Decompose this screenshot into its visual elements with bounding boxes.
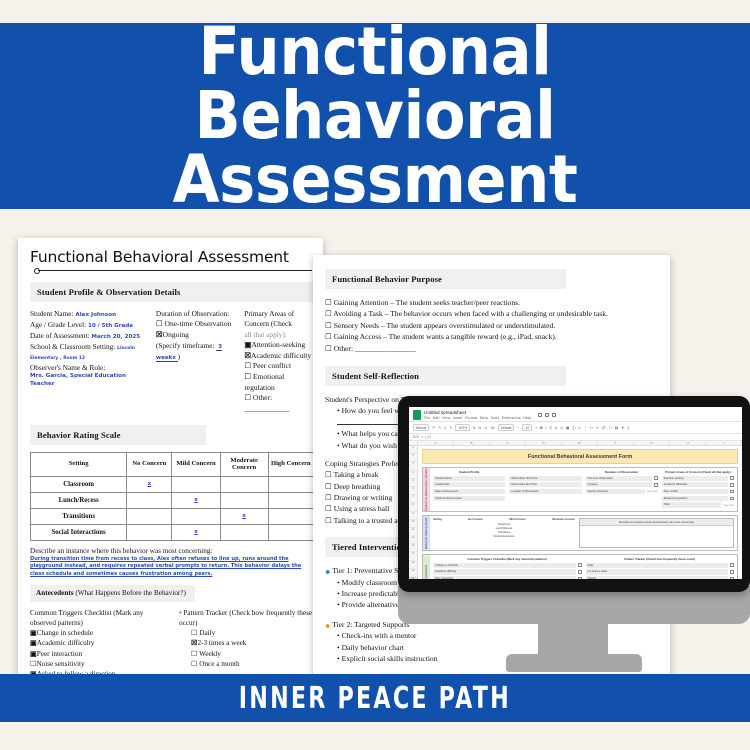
column-header-e[interactable]: E [562, 441, 598, 445]
purpose-item-gaining-access[interactable]: ☐ Gaining Access – The student wants a t… [325, 331, 660, 342]
sheet-pattern-panel: Pattern Tracker (Check how frequently th… [586, 557, 735, 579]
row-header[interactable]: 4 [409, 471, 417, 479]
primary-areas-heading: Primary Areas of Concern (Check [244, 309, 314, 330]
primary-areas-subheading: all that apply): [244, 330, 314, 340]
monitor-screen: Untitled spreadsheet File Edit View Inse… [409, 407, 742, 579]
corner-select-all[interactable] [409, 441, 418, 445]
filter-icon[interactable]: ▼ [621, 426, 624, 430]
purpose-label: Gaining Attention – The student seeks te… [334, 298, 520, 307]
duration-option-onetime[interactable]: ☐ One-time Observation [156, 319, 236, 330]
cell-mark[interactable] [172, 476, 220, 492]
sheet-col-student-profile: Student Profile Student Name Grade/Class… [433, 470, 505, 509]
concern-item-academic[interactable]: ☒Academic difficulty [244, 351, 314, 362]
th-setting: Setting [433, 518, 442, 521]
sheet-describe-panel: Describe an instance where this behavior… [579, 518, 734, 548]
checkbox-icon[interactable]: ☐ [325, 482, 332, 491]
cell[interactable]: Ongoing [586, 482, 653, 487]
pattern-item-2-3-week[interactable]: ☒2-3 times a week [191, 638, 314, 648]
checkbox-icon[interactable]: ☐ [244, 393, 251, 402]
sheet-row: Student Name [433, 476, 505, 481]
desktop-monitor-mockup: Untitled spreadsheet File Edit View Inse… [398, 396, 750, 682]
row-label-transitions: Transitions [31, 508, 127, 524]
sheet-row: 2-3 times a week [586, 569, 735, 574]
antecedents-rest: (What Happens Before the Behavior?) [75, 589, 186, 597]
row-header-column: 1 2 3 4 5 6 7 8 9 10 11 12 13 14 [409, 446, 418, 579]
concern-item-attention[interactable]: ▣Attention-seeking [244, 340, 314, 351]
italic-icon[interactable]: I [546, 426, 547, 430]
th-moderate-concern: Moderate Concern [552, 518, 575, 521]
table-header-row: Setting No Concern Mild Concern Moderate… [31, 452, 314, 476]
column-header-b[interactable]: B [454, 441, 490, 445]
row-label-lunch-recess: Lunch/Recess [31, 492, 127, 508]
band-body: Student Profile Student Name Grade/Class… [430, 468, 737, 511]
menus-button[interactable]: Menus [413, 424, 429, 431]
bullet-icon: • [179, 609, 182, 617]
row-header[interactable]: 14 [409, 552, 417, 560]
row-header[interactable]: 10 [409, 520, 417, 528]
checkbox-icon[interactable]: ☐ [325, 298, 332, 307]
col-header: Primary Areas of Concern (Check all that… [662, 470, 734, 474]
sheet-row: Date of Assessment [433, 489, 505, 494]
age-grade-row: Age / Grade Level: 10 / 5th Grade [30, 320, 148, 331]
checkbox-checked-icon[interactable]: ☒ [156, 330, 163, 339]
cell[interactable]: Observation End Time [509, 482, 581, 487]
cloud-status-icon [552, 413, 556, 417]
col-setting: Setting [31, 452, 127, 476]
table-row: Transitions x [31, 508, 314, 524]
cell[interactable]: Academic difficulties [662, 482, 729, 487]
concern-item-other-label: Other: ____________ [244, 393, 289, 413]
checkbox-icon[interactable] [730, 483, 734, 487]
row-header-selected[interactable]: 17 [409, 577, 417, 579]
row-header[interactable]: 15 [409, 561, 417, 569]
cell[interactable]: Peer interaction [433, 576, 576, 579]
pattern-heading: • Pattern Tracker (Check how frequently … [179, 608, 314, 628]
cell[interactable]: Specify timeframe [586, 489, 646, 494]
table-row: Lunch/Recess x [31, 492, 314, 508]
checkbox-icon[interactable] [578, 570, 582, 574]
checkbox-icon[interactable]: ☐ [191, 660, 197, 668]
cell-mark[interactable] [127, 508, 172, 524]
trigger-label: Noise sensitivity [36, 660, 84, 668]
sheet-row: Academic difficulties [662, 482, 734, 487]
cell-mark[interactable]: x [127, 476, 172, 492]
sheet-row: Peer interaction [433, 576, 582, 579]
assessment-date-label: Date of Assessment: [30, 331, 90, 340]
purpose-label: Other: ________________ [334, 344, 416, 353]
placeholder-text[interactable]: Type here [647, 490, 658, 493]
checkbox-icon[interactable]: ☐ [244, 372, 251, 381]
school-setting-value-3: , Room 12 [60, 356, 85, 361]
cell[interactable]: Emotional regulation [662, 496, 729, 501]
currency-icon[interactable]: $ [473, 426, 475, 430]
trigger-item-academic-difficulty[interactable]: ▣Academic difficulty [30, 638, 165, 648]
sheet-row: Emotional regulation [662, 496, 734, 501]
duration-option-ongoing-label: Ongoing [163, 330, 189, 339]
checkbox-icon[interactable] [654, 483, 658, 487]
checkbox-icon[interactable]: ☐ [325, 344, 332, 353]
col-no-concern: No Concern [127, 452, 172, 476]
column-header-g[interactable]: G [634, 441, 670, 445]
cell[interactable]: One-time Observation [586, 476, 653, 481]
text-wrap-icon[interactable]: ↩ [590, 426, 593, 430]
observer-value: Mrs. Garcia, Special Education Teacher [30, 373, 148, 389]
cell[interactable]: Other [662, 502, 722, 507]
document-page-1: Functional Behavioral Assessment Student… [18, 238, 323, 678]
concern-item-peer[interactable]: ☐ Peer conflict [244, 361, 314, 372]
monitor-foot [506, 654, 642, 672]
checkbox-icon[interactable]: ☐ [325, 309, 332, 318]
assessment-date-value: March 20, 2025 [91, 334, 140, 340]
triggers-panel-header: Common Triggers Checklist (Mark any obse… [433, 557, 582, 561]
cell[interactable]: Student Name [433, 476, 505, 481]
checkbox-checked-icon[interactable]: ▣ [30, 639, 37, 647]
sheet-row: Grade/Class [433, 482, 505, 487]
trigger-item-noise-sensitivity[interactable]: ☐Noise sensitivity [30, 659, 165, 669]
row-header[interactable]: 6 [409, 487, 417, 495]
text-color-icon[interactable]: A [555, 426, 557, 430]
cell-mark[interactable] [220, 476, 268, 492]
observer-row: Observer's Name & Role: [30, 363, 148, 373]
checkbox-icon[interactable] [654, 476, 658, 480]
sheet-rating-table: Setting No Concern Mild Concern Moderate… [433, 518, 575, 548]
spreadsheet-grid: 1 2 3 4 5 6 7 8 9 10 11 12 13 14 [409, 446, 742, 579]
sheet-triggers-panel: Common Triggers Checklist (Mark any obse… [433, 557, 582, 579]
cell[interactable]: Observation Start Time [509, 476, 581, 481]
poster-title-line1: Functional Behavioral [30, 20, 720, 148]
concern-item-other[interactable]: ☐ Other: ____________ [244, 393, 314, 414]
cell[interactable]: Academic difficulty [433, 569, 576, 574]
checkbox-icon[interactable] [578, 563, 582, 567]
col-header: Duration of Observation [586, 470, 658, 474]
sheet-row: Observation End Time [509, 482, 581, 487]
band-tab-label: Antecedents [423, 555, 430, 579]
band-tab-label: Behavior Rating Scale [423, 516, 430, 550]
sheet-content-area: Functional Behavioral Assessment Form St… [418, 446, 742, 579]
cell-mark[interactable] [268, 524, 313, 540]
purpose-item-other[interactable]: ☐ Other: ________________ [325, 343, 660, 354]
spreadsheet-titlebar: Untitled spreadsheet File Edit View Inse… [409, 407, 742, 421]
pattern-label: Weekly [199, 650, 221, 658]
purpose-label: Gaining Access – The student wants a tan… [334, 332, 557, 341]
merge-cells-icon[interactable]: ◫ [572, 426, 575, 430]
doc1-field-column: Student Name: Alex Johnson Age / Grade L… [30, 309, 148, 415]
row-header[interactable]: 11 [409, 528, 417, 536]
insert-link-icon[interactable]: 🔗 [601, 426, 605, 430]
cell[interactable]: Observer Name & Role [433, 496, 505, 501]
poster-canvas: Functional Behavioral Assessment Functio… [0, 0, 750, 750]
column-header-i[interactable]: I [706, 441, 742, 445]
school-setting-row: School & Classroom Setting: Lincoln Elem… [30, 342, 148, 363]
checkbox-checked-icon[interactable]: ▣ [30, 650, 37, 658]
tier-bullet-icon: ● [325, 620, 330, 630]
font-size-decrease-icon[interactable]: − [517, 426, 519, 430]
behavior-rating-table: Setting No Concern Mild Concern Moderate… [30, 452, 314, 541]
table-row: Social Interactions x [31, 524, 314, 540]
concern-item-academic-label: Academic difficulty [251, 351, 311, 360]
trigger-label: Academic difficulty [37, 639, 95, 647]
poster-title-line2: Assessment [173, 148, 578, 212]
print-icon[interactable]: ⎙ [444, 426, 447, 430]
percent-icon[interactable]: % [478, 426, 481, 430]
functions-icon[interactable]: Σ [627, 426, 629, 430]
fill-color-icon[interactable]: ◷ [560, 426, 563, 430]
th-no-concern: No Concern [468, 518, 483, 521]
row-header[interactable]: 1 [409, 446, 417, 454]
borders-icon[interactable]: ▦ [566, 426, 569, 430]
cell-mark[interactable] [220, 524, 268, 540]
row-header[interactable]: 8 [409, 503, 417, 511]
cell-mark[interactable] [127, 524, 172, 540]
checkbox-icon[interactable] [730, 476, 734, 480]
rating-table-headers: Setting No Concern Mild Concern Moderate… [433, 518, 575, 521]
sheet-row: Ongoing [586, 482, 658, 487]
describe-instance-label: Describe an instance where this behavior… [30, 547, 314, 555]
duration-option-onetime-label: One-time Observation [165, 319, 232, 328]
title-action-icons [538, 413, 556, 417]
cell-mark[interactable]: x [172, 492, 220, 508]
checkbox-icon[interactable]: ☐ [325, 321, 332, 330]
tier-bullet-icon: ● [325, 567, 330, 577]
checkbox-icon[interactable] [578, 577, 582, 579]
paint-format-icon[interactable]: ✎ [450, 426, 453, 430]
sheet-row: Daily [586, 563, 735, 568]
sheet-row: Weekly [586, 576, 735, 579]
sheet-row: Observer Name & Role [433, 496, 505, 501]
pattern-item-daily[interactable]: ☐ Daily [191, 628, 314, 638]
cell[interactable]: Daily [586, 563, 729, 568]
star-icon[interactable] [538, 413, 542, 417]
row-header[interactable]: 5 [409, 479, 417, 487]
doc1-section-student-profile: Student Profile & Observation Details [30, 282, 314, 302]
checkbox-icon[interactable]: ☐ [244, 361, 251, 370]
row-header[interactable]: 16 [409, 569, 417, 577]
row-label-classroom: Classroom [31, 476, 127, 492]
sheet-row: Observation Start Time [509, 476, 581, 481]
column-header-a[interactable]: A [418, 441, 454, 445]
formula-bar[interactable]: B20 ▾ | ƒx [409, 434, 742, 441]
checkbox-icon[interactable] [730, 490, 734, 494]
cell-mark[interactable]: x [172, 524, 220, 540]
col-moderate-concern: Moderate Concern [220, 452, 268, 476]
column-header-c[interactable]: C [490, 441, 526, 445]
purpose-item-sensory-needs[interactable]: ☐ Sensory Needs – The student appears ov… [325, 320, 660, 331]
row-header[interactable]: 3 [409, 462, 417, 470]
pattern-item-monthly[interactable]: ☐ Once a month [191, 659, 314, 669]
row-header[interactable]: 9 [409, 512, 417, 520]
cell-mark[interactable] [220, 492, 268, 508]
checkbox-icon[interactable] [730, 563, 734, 567]
cell-mark[interactable] [268, 492, 313, 508]
checkbox-icon[interactable]: ☐ [156, 319, 163, 328]
sheet-row: Academic difficulty [433, 569, 582, 574]
footer-banner: INNER PEACE PATH [0, 674, 750, 722]
cell-mark[interactable] [127, 492, 172, 508]
checkbox-icon[interactable]: ☐ [325, 493, 332, 502]
cell-mark[interactable] [172, 508, 220, 524]
placeholder-text[interactable]: Type here [723, 504, 734, 507]
band-columns: Student Profile Student Name Grade/Class… [433, 470, 734, 509]
rating-row-social[interactable]: Social Interactions [433, 535, 575, 539]
describe-panel[interactable]: Describe an instance where this behavior… [579, 518, 734, 548]
checkbox-icon[interactable]: ☐ [191, 650, 197, 658]
cell-mark[interactable] [268, 476, 313, 492]
doc1-duration-column: Duration of Observation: ☐ One-time Obse… [156, 309, 236, 415]
duration-specify-close: ) [178, 352, 180, 361]
spreadsheet-menubar[interactable]: File Edit View Insert Format Data Tools … [424, 416, 531, 420]
table-row: Classroom x [31, 476, 314, 492]
undo-icon[interactable]: ↶ [432, 426, 435, 430]
checkbox-icon[interactable]: ☐ [325, 332, 332, 341]
spreadsheet-toolbar[interactable]: Menus ↶ ↷ ⎙ ✎ 100% $ % .0 .00 Default − … [409, 421, 742, 434]
concern-item-peer-label: Peer conflict [253, 361, 291, 370]
pattern-tracker: • Pattern Tracker (Check how frequently … [179, 608, 314, 678]
purpose-item-avoiding-task[interactable]: ☐ Avoiding a Task – The behavior occurs … [325, 308, 660, 319]
font-size-value[interactable]: 10 [522, 424, 532, 431]
doc2-section-behavior-purpose: Functional Behavior Purpose [325, 269, 566, 289]
sheet-row: Attention seeking [662, 476, 734, 481]
cell[interactable]: Peer conflict [662, 489, 729, 494]
student-name-label: Student Name: [30, 309, 74, 318]
cell[interactable]: Location of Observation [509, 489, 581, 494]
vertical-align-icon[interactable]: ⋮ [583, 426, 586, 430]
text-rotation-icon[interactable]: ↗ [596, 426, 599, 430]
cell-reference[interactable]: B20 [413, 435, 419, 439]
sheet-row: Change in schedule [433, 563, 582, 568]
duration-specify-row: (Specify timeframe: 3 weeks ) [156, 341, 236, 363]
doc1-profile-columns: Student Name: Alex Johnson Age / Grade L… [30, 309, 314, 415]
th-mild-concern: Mild Concern [509, 518, 525, 521]
sheet-band-rating-scale: Behavior Rating Scale Setting No Concern… [422, 515, 738, 551]
pattern-label: Daily [199, 629, 215, 637]
checkbox-icon[interactable]: ☐ [325, 504, 332, 513]
trigger-item-peer-interaction[interactable]: ▣Peer interaction [30, 649, 165, 659]
sheet-row: Peer conflict [662, 489, 734, 494]
concern-item-emotional[interactable]: ☐ Emotional regulation [244, 372, 314, 393]
school-setting-value-2: Elementary [30, 356, 58, 361]
col-high-concern: High Concern [268, 452, 313, 476]
move-folder-icon[interactable] [545, 413, 549, 417]
bold-icon[interactable]: B [540, 426, 542, 430]
antecedents-heading: Antecedents (What Happens Before the Beh… [30, 585, 195, 602]
col-mild-concern: Mild Concern [172, 452, 220, 476]
pattern-label: 2-3 times a week [197, 639, 246, 647]
coping-label: Using a stress ball [334, 504, 389, 513]
checkbox-icon[interactable]: ☐ [325, 470, 332, 479]
sheet-col-primary-concerns: Primary Areas of Concern (Check all that… [662, 470, 734, 509]
antecedents-bold: Antecedents [36, 589, 74, 597]
purpose-label: Avoiding a Task – The behavior occurs wh… [333, 309, 608, 318]
cell[interactable]: Date of Assessment [433, 489, 505, 494]
redo-icon[interactable]: ↷ [438, 426, 441, 430]
cell[interactable]: 2-3 times a week [586, 569, 729, 574]
checkbox-icon[interactable]: ☐ [191, 629, 197, 637]
checkbox-checked-icon[interactable]: ▣ [30, 629, 37, 637]
cell-mark[interactable]: x [220, 508, 268, 524]
sheet-row: Specify timeframeType here [586, 489, 658, 494]
sheets-logo-icon [413, 410, 421, 420]
band-columns: Setting No Concern Mild Concern Moderate… [433, 518, 734, 548]
pattern-heading-label: Pattern Tracker (Check how frequently th… [179, 609, 312, 627]
row-label-social: Social Interactions [31, 524, 127, 540]
duration-option-ongoing[interactable]: ☒Ongoing [156, 330, 236, 341]
tier-item-label: Daily behavior chart [342, 643, 404, 652]
cell[interactable]: Attention seeking [662, 476, 729, 481]
horizontal-align-icon[interactable]: ≡ [578, 426, 580, 430]
cell-mark[interactable] [268, 508, 313, 524]
cell[interactable]: Grade/Class [433, 482, 505, 487]
observer-label: Observer's Name & Role: [30, 363, 105, 372]
duration-heading: Duration of Observation: [156, 309, 236, 319]
doc1-title: Functional Behavioral Assessment [30, 248, 314, 266]
decimal-decrease-icon[interactable]: .0 [484, 426, 487, 430]
sheet-form-title: Functional Behavioral Assessment Form [422, 449, 738, 464]
describe-panel-header: Describe an instance where this behavior… [580, 519, 733, 526]
cell[interactable]: Weekly [586, 576, 729, 579]
duration-specify-label: (Specify timeframe: [156, 341, 215, 350]
concern-item-emotional-label: Emotional regulation [244, 372, 284, 392]
triggers-checklist: Common Triggers Checklist (Mark any obse… [30, 608, 165, 678]
monitor-bezel: Untitled spreadsheet File Edit View Inse… [398, 396, 750, 592]
font-family-select[interactable]: Default [498, 424, 515, 431]
checkbox-icon[interactable] [730, 570, 734, 574]
purpose-label: Sensory Needs – The student appears over… [334, 321, 556, 330]
column-header-h[interactable]: H [670, 441, 706, 445]
brand-name: INNER PEACE PATH [239, 681, 511, 716]
doc1-bottom-lists: Common Triggers Checklist (Mark any obse… [30, 608, 314, 678]
age-grade-label: Age / Grade Level: [30, 320, 86, 329]
pattern-panel-header: Pattern Tracker (Check how frequently th… [586, 557, 735, 561]
purpose-item-gaining-attention[interactable]: ☐ Gaining Attention – The student seeks … [325, 297, 660, 308]
sheet-col-observation-times: Observation Start Time Observation End T… [509, 470, 581, 509]
insert-comment-icon[interactable]: ☐ [609, 426, 612, 430]
sheet-row: OtherType here [662, 502, 734, 507]
student-name-row: Student Name: Alex Johnson [30, 309, 148, 320]
band-body: Common Triggers Checklist (Mark any obse… [430, 555, 737, 579]
font-size-increase-icon[interactable]: + [535, 426, 537, 430]
title-divider [30, 268, 314, 274]
purpose-checklist: ☐ Gaining Attention – The student seeks … [325, 297, 660, 354]
age-grade-value: 10 / 5th Grade [88, 323, 133, 329]
strikethrough-icon[interactable]: S [549, 426, 551, 430]
school-setting-value-1: Lincoln [117, 346, 135, 351]
coping-label: Deep breathing [334, 482, 381, 491]
assessment-date-row: Date of Assessment: March 20, 2025 [30, 331, 148, 342]
column-header-f[interactable]: F [598, 441, 634, 445]
trigger-item-change-schedule[interactable]: ▣Change in schedule [30, 628, 165, 638]
sheet-col-duration: Duration of Observation One-time Observa… [586, 470, 658, 509]
zoom-level[interactable]: 100% [455, 424, 470, 431]
coping-label: Taking a break [334, 470, 379, 479]
header-banner: Functional Behavioral Assessment [0, 23, 750, 209]
checkbox-icon[interactable] [730, 577, 734, 579]
sheet-row: One-time Observation [586, 476, 658, 481]
checkbox-icon[interactable] [730, 497, 734, 501]
decimal-increase-icon[interactable]: .00 [490, 426, 495, 430]
sheet-row: Location of Observation [509, 489, 581, 494]
column-header-d[interactable]: D [526, 441, 562, 445]
band-tab-label: Student & Observation Details [423, 468, 430, 511]
trigger-label: Change in schedule [37, 629, 93, 637]
pattern-item-weekly[interactable]: ☐ Weekly [191, 649, 314, 659]
doc1-section-behavior-rating: Behavior Rating Scale [30, 425, 206, 445]
insert-chart-icon[interactable]: ▤ [615, 426, 618, 430]
checkbox-icon[interactable]: ☐ [325, 516, 332, 525]
cell[interactable]: Change in schedule [433, 563, 576, 568]
triggers-heading: Common Triggers Checklist (Mark any obse… [30, 608, 165, 628]
band-body: Setting No Concern Mild Concern Moderate… [430, 516, 737, 550]
student-name-value: Alex Johnson [75, 312, 116, 318]
